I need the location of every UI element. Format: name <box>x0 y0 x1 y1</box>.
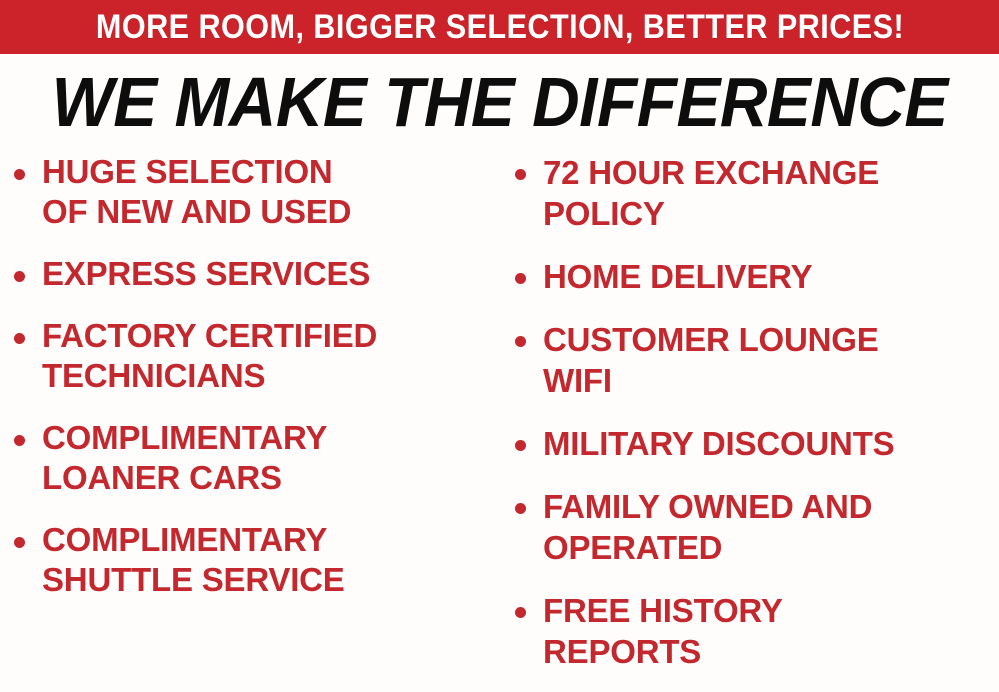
list-item: EXPRESS SERVICES <box>14 254 499 294</box>
list-item: HOME DELIVERY <box>515 256 999 297</box>
advertisement-banner: MORE ROOM, BIGGER SELECTION, BETTER PRIC… <box>0 0 999 692</box>
list-item: HUGE SELECTION OF NEW AND USED <box>14 152 499 232</box>
list-item-label: HUGE SELECTION OF NEW AND USED <box>42 152 351 232</box>
list-item-label: FREE HISTORY REPORTS <box>543 590 783 672</box>
bullet-dot-icon <box>14 537 25 548</box>
bullet-dot-icon <box>515 169 526 180</box>
list-item: FREE HISTORY REPORTS <box>515 590 999 672</box>
bullet-dot-icon <box>14 333 25 344</box>
list-item: FACTORY CERTIFIED TECHNICIANS <box>14 316 499 396</box>
list-item: 72 HOUR EXCHANGE POLICY <box>515 152 999 234</box>
benefits-list: HUGE SELECTION OF NEW AND USED EXPRESS S… <box>0 152 999 692</box>
list-item-label: FAMILY OWNED AND OPERATED <box>543 486 872 568</box>
list-item-label: FACTORY CERTIFIED TECHNICIANS <box>42 316 377 396</box>
headline: WE MAKE THE DIFFERENCE <box>0 66 999 138</box>
bullet-dot-icon <box>515 607 526 618</box>
list-item-label: COMPLIMENTARY SHUTTLE SERVICE <box>42 520 345 600</box>
bullet-dot-icon <box>515 336 526 347</box>
list-item-label: EXPRESS SERVICES <box>42 254 370 294</box>
bullet-dot-icon <box>515 503 526 514</box>
bullet-dot-icon <box>515 273 526 284</box>
list-item-label: 72 HOUR EXCHANGE POLICY <box>543 152 879 234</box>
promo-banner-text: MORE ROOM, BIGGER SELECTION, BETTER PRIC… <box>95 10 903 44</box>
list-item-label: COMPLIMENTARY LOANER CARS <box>42 418 327 498</box>
headline-text: WE MAKE THE DIFFERENCE <box>51 66 947 138</box>
bullet-dot-icon <box>14 271 25 282</box>
bullet-dot-icon <box>14 169 25 180</box>
list-item-label: HOME DELIVERY <box>543 256 812 297</box>
list-item: FAMILY OWNED AND OPERATED <box>515 486 999 568</box>
list-item: COMPLIMENTARY SHUTTLE SERVICE <box>14 520 499 600</box>
bullet-dot-icon <box>515 440 526 451</box>
list-item-label: CUSTOMER LOUNGE WIFI <box>543 319 879 401</box>
list-item: COMPLIMENTARY LOANER CARS <box>14 418 499 498</box>
list-item: MILITARY DISCOUNTS <box>515 423 999 464</box>
promo-banner: MORE ROOM, BIGGER SELECTION, BETTER PRIC… <box>0 0 999 54</box>
benefits-right-column: 72 HOUR EXCHANGE POLICY HOME DELIVERY CU… <box>515 152 999 692</box>
list-item: CUSTOMER LOUNGE WIFI <box>515 319 999 401</box>
list-item-label: MILITARY DISCOUNTS <box>543 423 894 464</box>
bullet-dot-icon <box>14 435 25 446</box>
benefits-left-column: HUGE SELECTION OF NEW AND USED EXPRESS S… <box>14 152 499 622</box>
